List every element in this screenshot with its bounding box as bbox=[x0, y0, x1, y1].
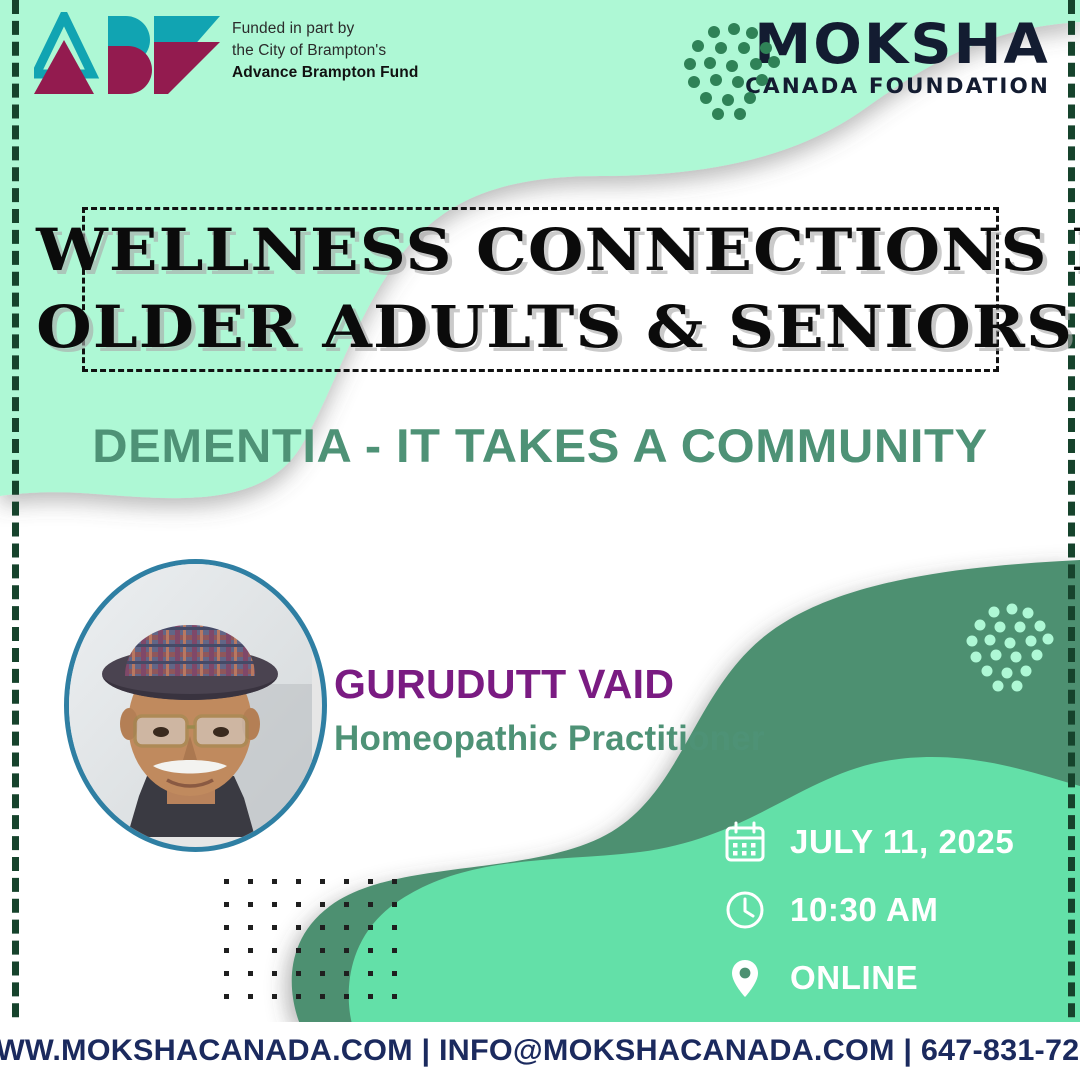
event-poster: Funded in part by the City of Brampton's… bbox=[0, 0, 1080, 1080]
event-location: ONLINE bbox=[790, 959, 918, 997]
title-line-1: WELLNESS CONNECTIONS FOR bbox=[36, 212, 1045, 289]
funder-line-1: Funded in part by bbox=[232, 18, 422, 40]
speaker-portrait bbox=[64, 559, 327, 852]
left-dashed-rule bbox=[12, 0, 19, 1080]
location-pin-icon bbox=[722, 955, 768, 1001]
speaker-role: Homeopathic Practitioner bbox=[334, 719, 765, 759]
detail-row-time: 10:30 AM bbox=[722, 880, 1014, 940]
event-date: JULY 11, 2025 bbox=[790, 823, 1014, 861]
event-details: JULY 11, 2025 10:30 AM ONLINE bbox=[722, 812, 1014, 1016]
right-dashed-rule bbox=[1068, 0, 1075, 1080]
clock-icon bbox=[722, 887, 768, 933]
page-subtitle: DEMENTIA - IT TAKES A COMMUNITY bbox=[0, 418, 1080, 473]
title-line-2: OLDER ADULTS & SENIORS bbox=[36, 289, 1045, 366]
dot-cluster-icon-top bbox=[676, 18, 788, 131]
dot-cluster-icon-mid bbox=[960, 600, 1060, 701]
dot-grid-decoration bbox=[224, 879, 400, 1008]
funder-line-3: Advance Brampton Fund bbox=[232, 62, 422, 84]
funder-credit: Funded in part by the City of Brampton's… bbox=[232, 18, 422, 84]
detail-row-location: ONLINE bbox=[722, 948, 1014, 1008]
event-time: 10:30 AM bbox=[790, 891, 938, 929]
speaker-name: GURUDUTT VAID bbox=[334, 661, 674, 708]
abf-logo bbox=[34, 12, 224, 98]
moksha-subtitle: CANADA FOUNDATION bbox=[745, 74, 1050, 99]
footer-contact-text: WWW.MOKSHACANADA.COM | INFO@MOKSHACANADA… bbox=[0, 1034, 1080, 1068]
page-title: WELLNESS CONNECTIONS FOR OLDER ADULTS & … bbox=[36, 212, 1045, 366]
moksha-logo: MOKSHA CANADA FOUNDATION bbox=[745, 18, 1050, 99]
detail-row-date: JULY 11, 2025 bbox=[722, 812, 1014, 872]
calendar-icon bbox=[722, 819, 768, 865]
funder-line-2: the City of Brampton's bbox=[232, 40, 422, 62]
footer-contact-bar: WWW.MOKSHACANADA.COM | INFO@MOKSHACANADA… bbox=[0, 1022, 1080, 1080]
